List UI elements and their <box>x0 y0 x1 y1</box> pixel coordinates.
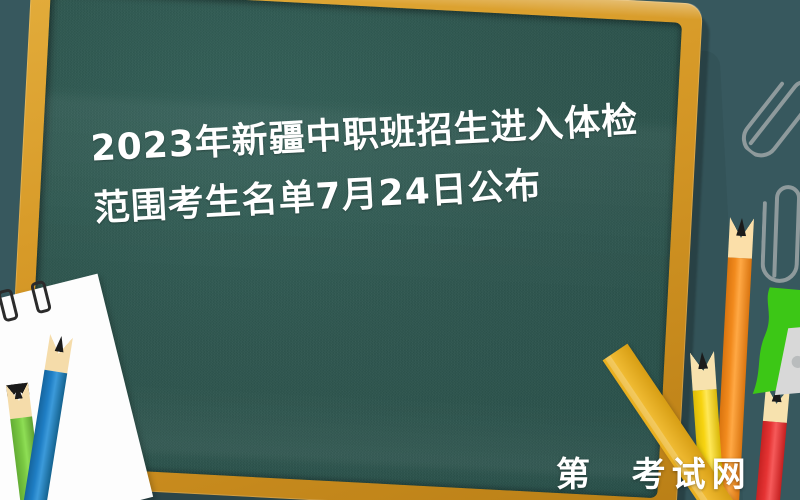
paperclip-vertical-icon <box>760 171 800 285</box>
red-pencil <box>755 385 790 500</box>
poster-canvas: 2023年新疆中职班招生进入体检范围考生名单7月24日公布 <box>0 0 800 500</box>
notepad-ring <box>0 288 19 323</box>
notepad-spiral-binding <box>0 269 91 329</box>
paperclip-diagonal-icon <box>735 59 800 169</box>
site-watermark: 第 考试网 <box>556 447 752 496</box>
notepad-ring <box>30 280 52 315</box>
pencil-sharpener <box>748 285 800 404</box>
